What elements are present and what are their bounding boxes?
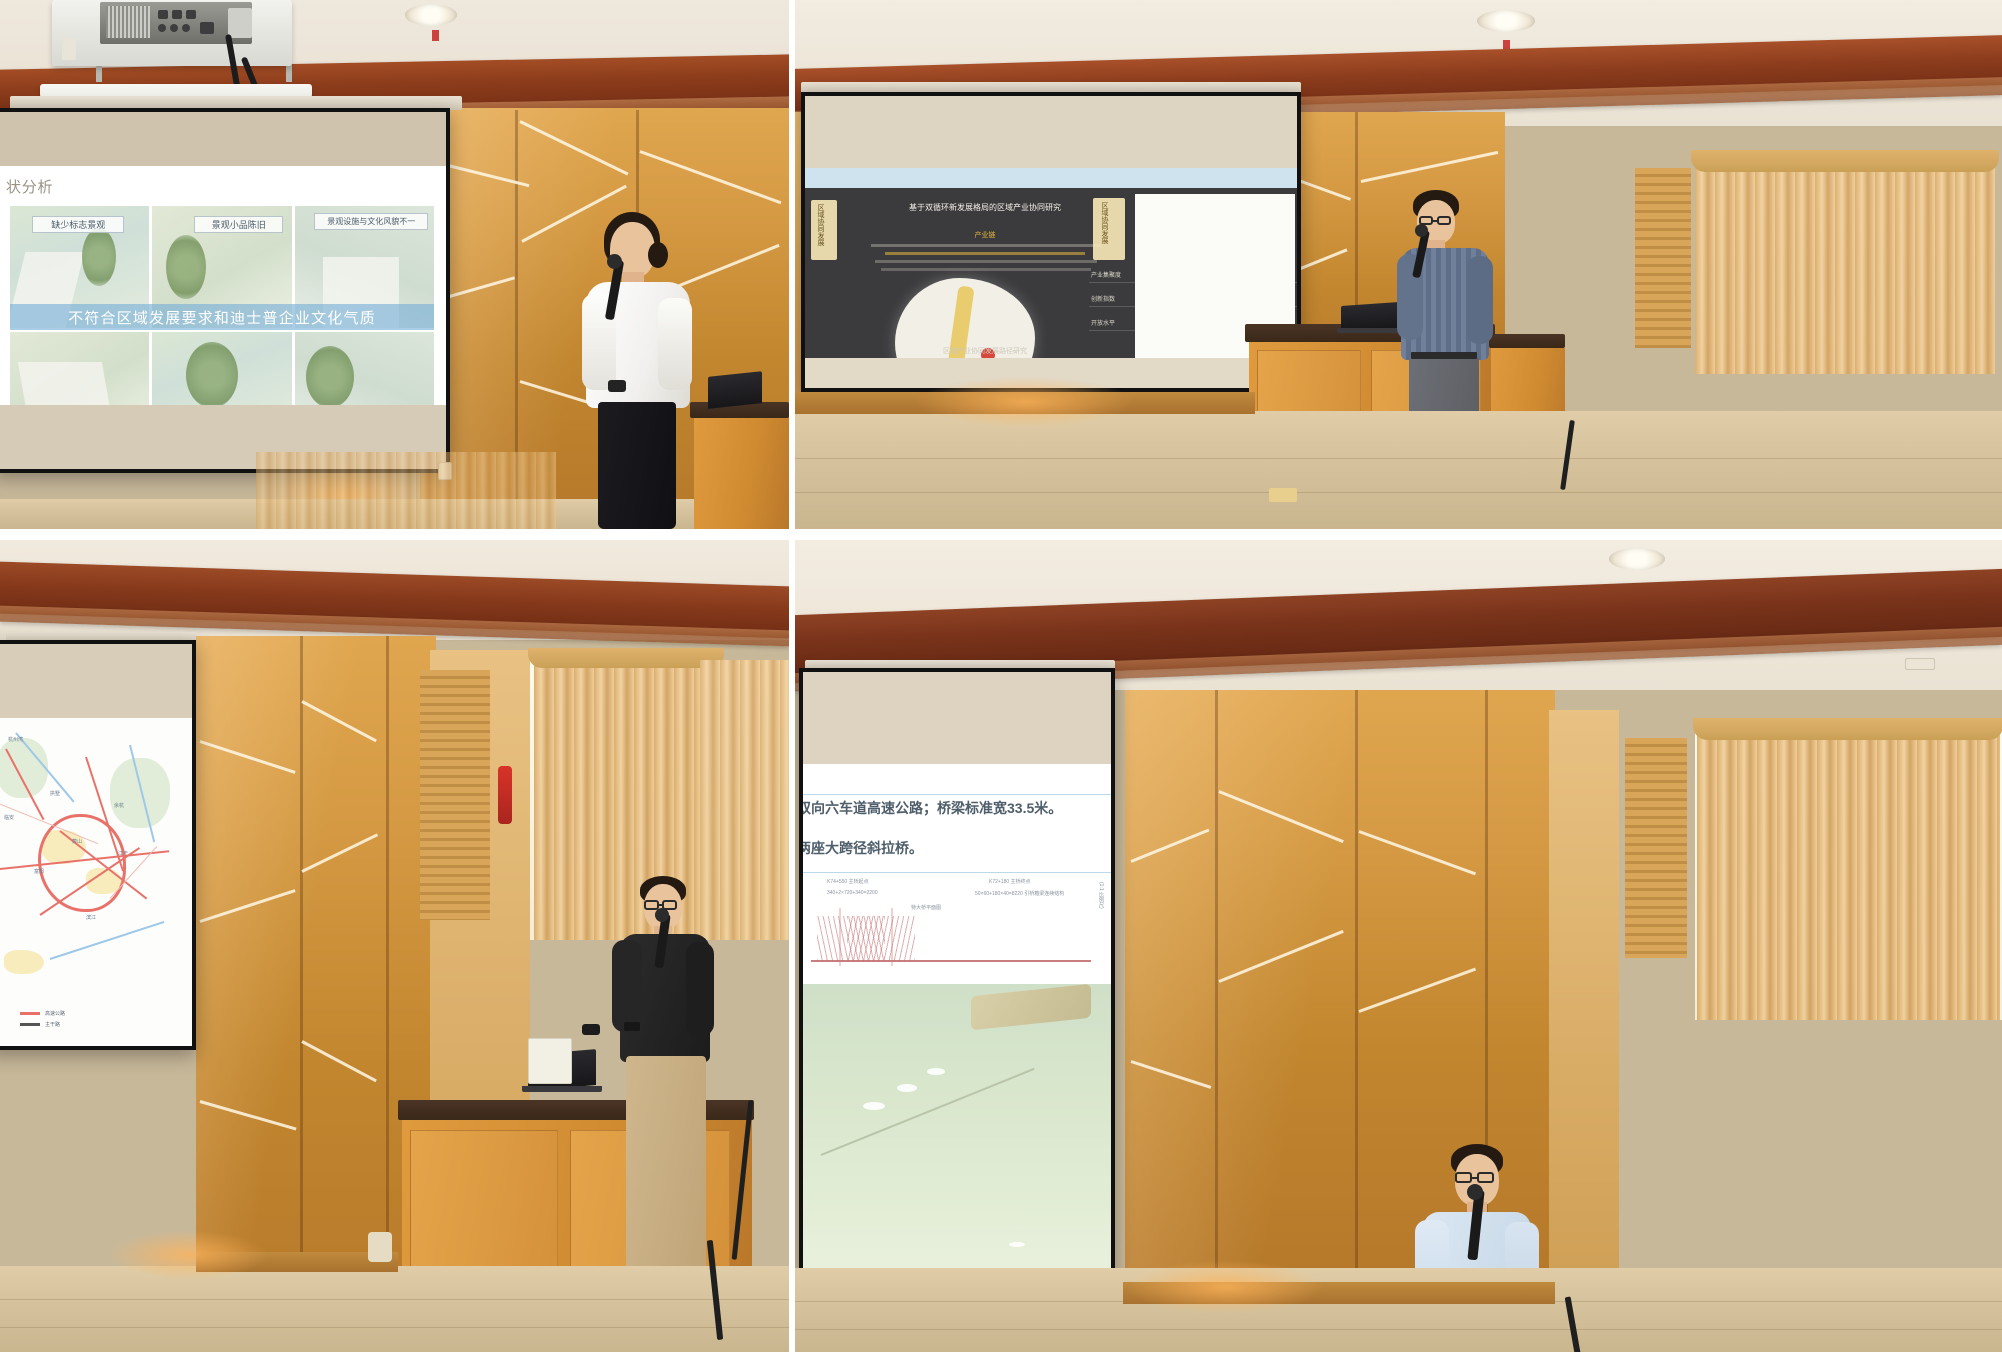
projection-screen-frame-br[interactable]: 双向六车道高速公路；桥梁标准宽33.5米。 两座大跨径斜拉桥。 K74+550 …: [799, 668, 1115, 1328]
panel-top-left[interactable]: 状分析 缺少标志景观 景观小品陈旧: [0, 0, 789, 529]
slide-photo-4: 绿化杂乱: [10, 332, 149, 405]
glasses-icon-right: [1437, 216, 1451, 225]
presenter-female[interactable]: [566, 212, 702, 529]
bridge-shore: [971, 984, 1091, 1031]
uplight-glow-tr: [915, 376, 1135, 428]
slide-dark-region-map: 基于双循环新发展格局的区域产业协同研究 产业链 区域协同发展 区: [805, 168, 1297, 358]
bridge-diagram-label-0: K74+550 主桥起点: [827, 878, 869, 885]
valance-bl: [528, 648, 724, 668]
room-scene-top-left: 状分析 缺少标志景观 景观小品陈旧: [0, 0, 789, 529]
map-label-7: 拱墅: [50, 790, 60, 797]
side-card-right-text: 区域协同发展: [1099, 202, 1109, 244]
wall-seam-bl-1: [300, 636, 303, 1352]
ceiling-red-marker: [432, 30, 439, 41]
bridge-pylon-marker-1: [863, 1102, 885, 1110]
floor-seam-tr-1: [795, 458, 2002, 459]
projection-screen-surface-tr: 基于双循环新发展格局的区域产业协同研究 产业链 区域协同发展 区: [805, 96, 1297, 388]
bridge-text-line-1: 双向六车道高速公路；桥梁标准宽33.5米。: [803, 798, 1062, 818]
room-scene-top-right: 基于双循环新发展格局的区域产业协同研究 产业链 区域协同发展 区: [795, 0, 2002, 529]
projection-screen-surface-br: 双向六车道高速公路；桥梁标准宽33.5米。 两座大跨径斜拉桥。 K74+550 …: [803, 672, 1111, 1324]
projector-port-4: [158, 24, 166, 32]
wood-wall-br-2: [1549, 710, 1619, 1290]
bridge-diagram-label-1: K72+180 主桥终点: [989, 878, 1031, 885]
floor-tr: [795, 411, 2002, 529]
projector-port-3: [186, 10, 196, 19]
bridge-diagram-label-2: 340+2×720+340=2200: [827, 890, 878, 896]
stat-label-2: 开放水平: [1091, 318, 1115, 327]
floor-br: [795, 1268, 2002, 1352]
microphone-head: [607, 254, 622, 269]
valance-br: [1693, 718, 2002, 740]
dark-slide-body-3: [875, 260, 1097, 263]
map-label-4: 余杭: [114, 802, 124, 809]
photo-road-4: [18, 362, 114, 405]
microphone-head-2: [1415, 224, 1428, 237]
floor-seam-tr-2: [795, 492, 2002, 493]
photo-callout-1: 缺少标志景观: [32, 216, 124, 233]
projector-port-5: [170, 24, 178, 32]
dark-slide-accent: 产业链: [875, 230, 1095, 240]
presenter-hair-bun: [648, 242, 668, 268]
floor-seam-bl-2: [0, 1327, 789, 1328]
map-label-5: 江干: [118, 850, 128, 857]
projection-screen-surface: 状分析 缺少标志景观 景观小品陈旧: [0, 112, 446, 469]
screen-top-band-bl: [0, 644, 192, 718]
dark-slide-header-bar: [805, 168, 1297, 188]
floor-seam-bl-1: [0, 1299, 789, 1300]
slide-urban-analysis: 状分析 缺少标志景观 景观小品陈旧: [0, 166, 446, 405]
laptop-screen[interactable]: [708, 371, 762, 409]
slide-photo-strip-bottom: 绿化杂乱 树下空间闲置 缺乏基础休憩设施: [10, 332, 434, 405]
boat-wake: [1009, 1242, 1025, 1247]
ceiling-light-br: [1609, 548, 1665, 570]
floor-object-bl: [368, 1232, 392, 1262]
presenter2-belt: [1411, 352, 1477, 359]
fire-extinguisher: [498, 766, 512, 824]
slide-bridge-project: 双向六车道高速公路；桥梁标准宽33.5米。 两座大跨径斜拉桥。 K74+550 …: [803, 764, 1111, 1324]
bridge-rule-mid: [803, 872, 1111, 873]
bridge-diagram-label-3: 50×60+180×40=8220 引桥箱梁连续结构: [975, 890, 1064, 897]
louver-panel-bl: [420, 670, 490, 920]
podium-body: [694, 418, 789, 529]
stat-label-1: 创新指数: [1091, 294, 1115, 303]
projector-lens: [228, 8, 252, 38]
slide-road-network-map: 杭州湾 临安 富阳 萧山 余杭 江干 滨江 拱墅 高速公路: [0, 718, 192, 1046]
bridge-diagram-right-meta: (1:1 比例尺): [1098, 882, 1105, 909]
panel-top-right[interactable]: 基于双循环新发展格局的区域产业协同研究 产业链 区域协同发展 区: [795, 0, 2002, 529]
glasses-bridge: [1433, 220, 1437, 222]
projection-screen-frame[interactable]: 状分析 缺少标志景观 景观小品陈旧: [0, 108, 450, 473]
projector-port-7: [200, 22, 214, 34]
ceiling-vent-br: [1905, 658, 1935, 670]
glasses-icon-br-left: [1455, 1172, 1472, 1183]
podium[interactable]: [690, 388, 789, 529]
louver-panel-br: [1625, 738, 1687, 958]
projector-port-2: [172, 10, 182, 19]
room-scene-bottom-left: 杭州湾 临安 富阳 萧山 余杭 江干 滨江 拱墅 高速公路: [0, 540, 789, 1352]
presenter-arm-right: [658, 298, 692, 390]
presenter3-arm-left: [612, 940, 642, 1032]
legend-text-0: 高速公路: [45, 1010, 65, 1017]
glasses-bridge-bl: [659, 904, 663, 906]
bridge-rule-top: [803, 794, 1111, 795]
bridge-text-line-2: 两座大跨径斜拉桥。: [803, 838, 923, 858]
projector-port-6: [182, 24, 190, 32]
presenter3-arm-right: [686, 942, 714, 1036]
curtain-backdrop: [256, 452, 556, 529]
side-card-right: [1093, 198, 1125, 260]
glasses-icon-br-right: [1477, 1172, 1494, 1183]
presenter-clicker[interactable]: [608, 380, 626, 392]
map-urban-blob-3: [4, 950, 44, 974]
screen-top-band-tr: [805, 96, 1297, 168]
bridge-elevation-diagram: K74+550 主桥起点 K72+180 主桥终点 340+2×720+340=…: [803, 874, 1111, 984]
floor-seam-br-2: [795, 1329, 2002, 1330]
curtain-right: [1695, 150, 1995, 374]
projection-screen-frame-tr[interactable]: 基于双循环新发展格局的区域产业协同研究 产业链 区域协同发展 区: [801, 92, 1301, 392]
bridge-cable-fan-right: [847, 916, 915, 962]
projection-screen-frame-bl[interactable]: 杭州湾 临安 富阳 萧山 余杭 江干 滨江 拱墅 高速公路: [0, 640, 196, 1050]
presenter3-clicker[interactable]: [582, 1024, 600, 1035]
side-card-left-text: 区域协同发展: [815, 204, 825, 246]
screen-top-band-br: [803, 672, 1111, 764]
projection-screen-surface-bl: 杭州湾 临安 富阳 萧山 余杭 江干 滨江 拱墅 高速公路: [0, 644, 192, 1046]
laptop-base-bl: [522, 1086, 602, 1092]
slide-title: 状分析: [6, 176, 53, 197]
projector-port-1: [158, 10, 168, 19]
photo-collage: 状分析 缺少标志景观 景观小品陈旧: [0, 0, 2002, 1352]
glasses-bridge-br: [1472, 1177, 1477, 1179]
projector-tag: [62, 38, 76, 60]
presenter-legs: [598, 402, 676, 529]
ceiling-light-tr: [1477, 10, 1535, 32]
microphone-head-3: [655, 908, 669, 922]
uplight-glow-bl: [108, 1230, 268, 1280]
legend-swatch-arterial-icon: [20, 1023, 40, 1026]
legend-row-0: 高速公路: [20, 1010, 65, 1017]
photo-tree-2: [166, 235, 206, 299]
desk-box-bl: [528, 1038, 572, 1084]
dark-slide-body-2: [885, 252, 1085, 255]
map-label-1: 临安: [4, 814, 14, 821]
bridge-pylon-marker-2: [897, 1084, 917, 1092]
sea-crossing-bridge: [821, 1068, 1035, 1156]
curtain-valance: [1691, 150, 1999, 172]
wall-seam-br-1: [1215, 690, 1218, 1290]
room-scene-bottom-right: 双向六车道高速公路；桥梁标准宽33.5米。 两座大跨径斜拉桥。 K74+550 …: [795, 540, 2002, 1352]
curtain-br: [1697, 726, 2000, 1020]
wall-seam-br-2: [1355, 690, 1358, 1290]
map-green-area-1: [0, 738, 48, 798]
projector-vent: [106, 6, 150, 38]
dark-slide-title: 基于双循环新发展格局的区域产业协同研究: [875, 202, 1095, 213]
photo-callout-2: 景观小品陈旧: [194, 216, 283, 233]
photo-tree-5: [186, 342, 238, 405]
map-label-2: 富阳: [34, 868, 44, 875]
legend-row-1: 主干路: [20, 1021, 65, 1028]
slide-photo-5: 树下空间闲置: [152, 332, 291, 405]
map-label-6: 滨江: [86, 914, 96, 921]
slide-photo-6: 缺乏基础休憩设施: [295, 332, 434, 405]
stat-label-0: 产业集聚度: [1091, 270, 1121, 279]
legend-text-1: 主干路: [45, 1021, 60, 1028]
slide-key-message-banner: 不符合区域发展要求和迪士普企业文化气质: [10, 304, 434, 330]
panel-bottom-left[interactable]: 杭州湾 临安 富阳 萧山 余杭 江干 滨江 拱墅 高速公路: [0, 540, 789, 1352]
floor-marker-tr: [1269, 488, 1297, 502]
photo-tree-6: [306, 346, 354, 405]
presenter2-arm-right: [1467, 256, 1493, 344]
microphone-head-4: [1467, 1184, 1483, 1200]
bridge-pylon-marker-3: [927, 1068, 945, 1075]
legend-swatch-highway-icon: [20, 1012, 40, 1015]
map-legend: 高速公路 主干路: [20, 1010, 65, 1028]
panel-bottom-right[interactable]: 双向六车道高速公路；桥梁标准宽33.5米。 两座大跨径斜拉桥。 K74+550 …: [795, 540, 2002, 1352]
dark-slide-body-4: [881, 268, 1091, 271]
dark-slide-footer: 区域产业协同发展路径研究: [865, 346, 1105, 356]
map-label-3: 萧山: [72, 838, 82, 845]
louver-panel: [1635, 168, 1691, 348]
ceiling-light: [405, 4, 457, 26]
photo-tree-1: [82, 228, 116, 286]
dark-slide-body-1: [871, 244, 1101, 247]
map-river-3: [50, 921, 165, 960]
screen-top-band: [0, 112, 446, 166]
presenter3-watch: [624, 1022, 640, 1031]
photo-callout-3: 景观设施与文化风貌不一: [314, 213, 428, 230]
bridge-diagram-label-4: 特大桥平面图: [911, 904, 941, 911]
map-label-0: 杭州湾: [8, 736, 23, 743]
uplight-glow-br: [1125, 1260, 1325, 1314]
